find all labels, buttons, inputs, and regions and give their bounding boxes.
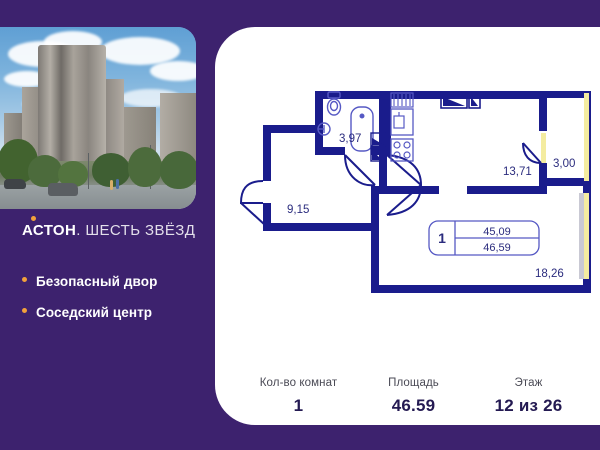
feature-item: Соседский центр <box>22 305 157 320</box>
door-entrance-leaf <box>241 203 265 225</box>
badge-area-living: 45,09 <box>483 226 511 238</box>
area-label-hall: 9,15 <box>287 204 309 216</box>
brand-panel: АСТОН. ШЕСТЬ ЗВЁЗД Безопасный двор Сосед… <box>0 0 215 450</box>
spec-label: Этаж <box>471 377 586 389</box>
badge-rooms: 1 <box>438 230 446 246</box>
area-label-bathroom: 3,97 <box>339 133 361 145</box>
spec-rooms: Кол-во комнат 1 <box>241 377 356 416</box>
feature-list: Безопасный двор Соседский центр <box>22 274 157 336</box>
bullet-dot-icon <box>22 277 27 282</box>
lamp-post <box>88 153 89 189</box>
window-kitchen <box>541 133 546 163</box>
brand-name-light: . ШЕСТЬ ЗВЁЗД <box>76 222 195 239</box>
car <box>4 179 26 189</box>
spec-label: Кол-во комнат <box>241 377 356 389</box>
kitchen-sink-basin-icon <box>394 116 404 128</box>
window-living <box>584 193 589 279</box>
window-balcony <box>584 93 589 181</box>
floor-plan-card: 3,97 9,15 13,71 3,00 18,26 1 45,09 46,59… <box>215 27 600 425</box>
pedestrian <box>116 179 119 189</box>
spec-value: 1 <box>241 396 356 416</box>
tower-building-main <box>38 45 106 171</box>
specs-row: Кол-во комнат 1 Площадь 46.59 Этаж 12 из… <box>241 377 586 416</box>
bathtub-drain-icon <box>360 114 364 118</box>
area-label-balcony: 3,00 <box>553 158 575 170</box>
spec-area: Площадь 46.59 <box>356 377 471 416</box>
feature-item: Безопасный двор <box>22 274 157 289</box>
road <box>0 185 196 209</box>
area-label-kitchen: 13,71 <box>503 166 532 178</box>
feature-label: Соседский центр <box>36 305 152 320</box>
door-entrance-arc <box>241 181 263 203</box>
spec-value: 46.59 <box>356 396 471 416</box>
plan-summary-badge: 1 45,09 46,59 <box>429 221 539 255</box>
promo-card: АСТОН. ШЕСТЬ ЗВЁЗД Безопасный двор Сосед… <box>0 0 600 450</box>
tree <box>160 151 196 189</box>
spec-floor: Этаж 12 из 26 <box>471 377 586 416</box>
tree <box>128 147 162 187</box>
spec-label: Площадь <box>356 377 471 389</box>
car <box>48 183 78 196</box>
brand-logo: АСТОН. ШЕСТЬ ЗВЁЗД <box>22 222 195 240</box>
pedestrian <box>110 180 113 190</box>
brand-name-bold: АСТОН <box>22 222 76 239</box>
bullet-dot-icon <box>22 308 27 313</box>
badge-area-total: 46,59 <box>483 242 511 254</box>
building-photo <box>0 27 196 209</box>
spec-value: 12 из 26 <box>471 396 586 416</box>
window-living-frame <box>579 193 584 279</box>
logo-accent-dot-icon <box>31 216 36 221</box>
feature-label: Безопасный двор <box>36 274 157 289</box>
toilet-seat-icon <box>331 102 338 111</box>
floor-plan: 3,97 9,15 13,71 3,00 18,26 1 45,09 46,59 <box>235 85 595 315</box>
area-label-living: 18,26 <box>535 268 564 280</box>
